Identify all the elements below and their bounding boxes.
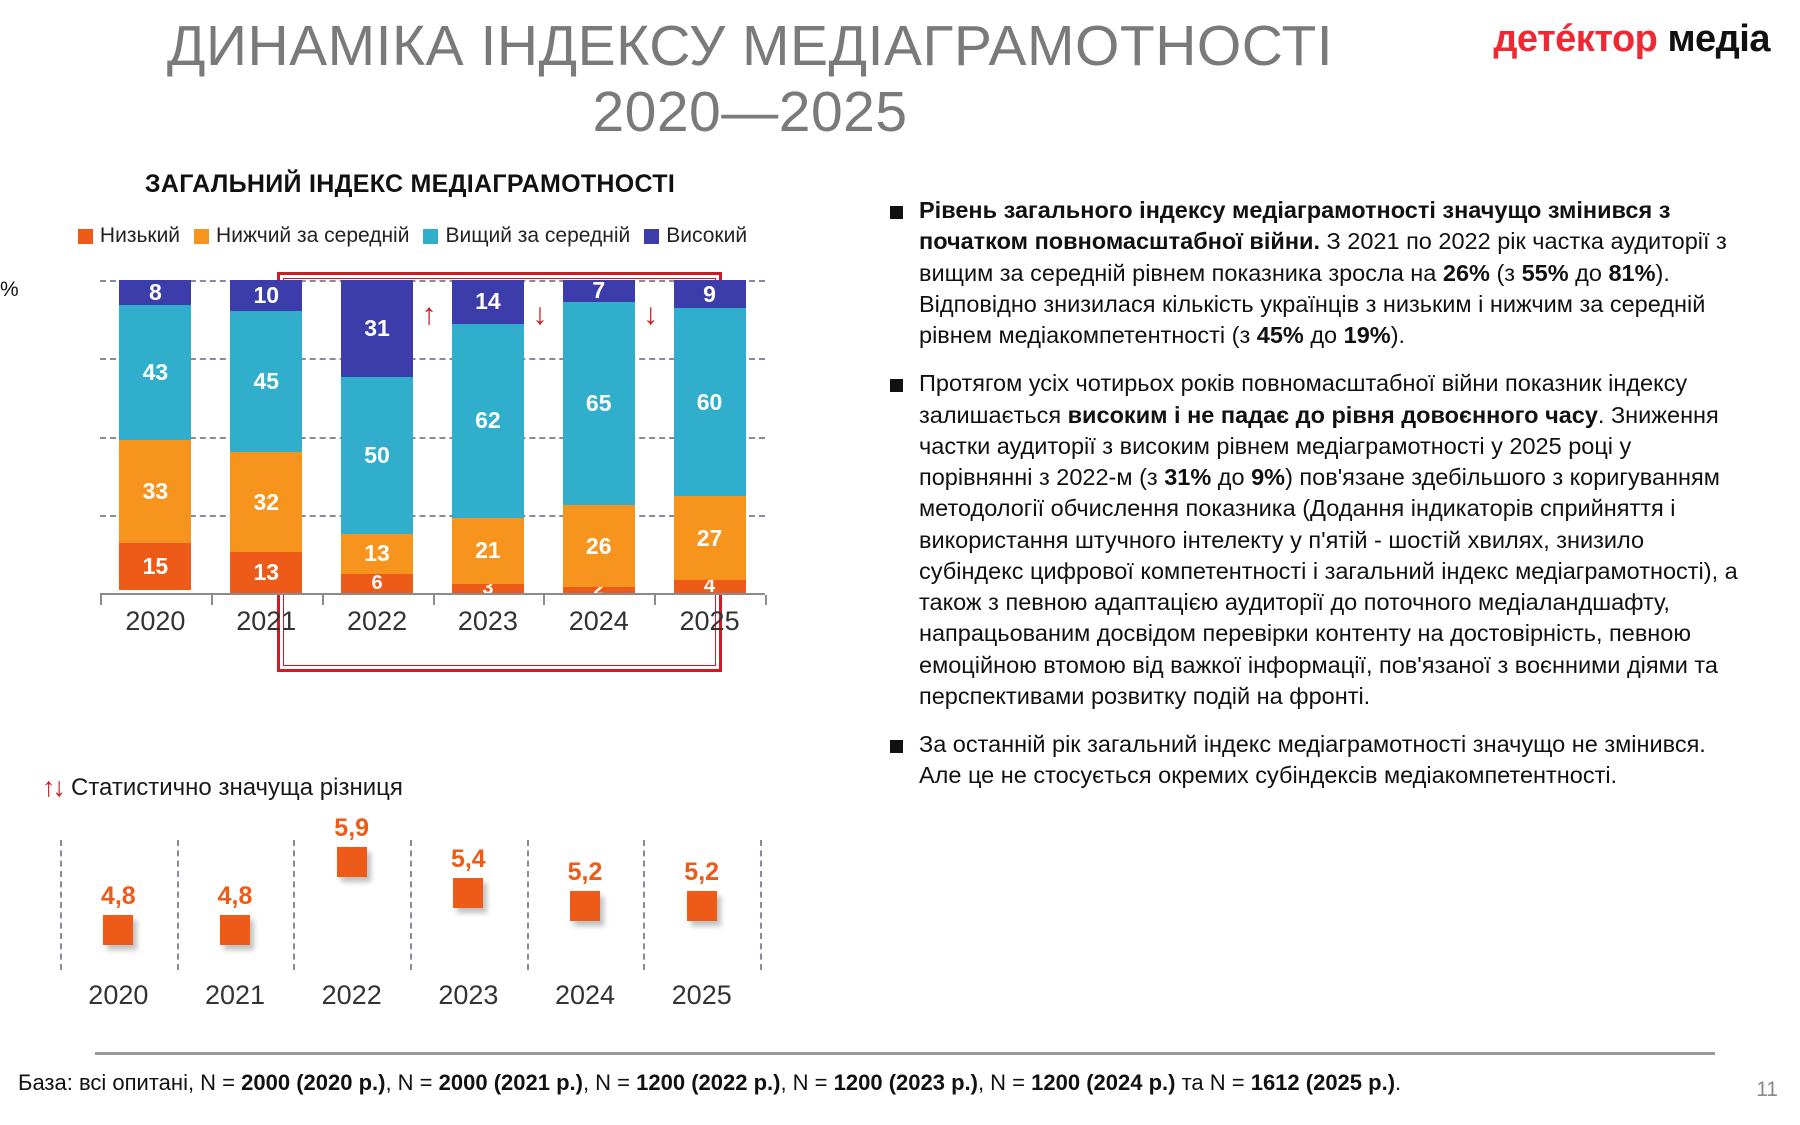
legend-label: Високий xyxy=(666,224,747,248)
index-gridline xyxy=(760,840,762,970)
legend-label: Нижчий за середній xyxy=(216,224,409,248)
notes-panel: Рівень загального індексу медіаграмотнос… xyxy=(890,195,1750,809)
significance-down-arrow-icon: ↓ xyxy=(532,300,547,330)
significance-up-arrow-icon: ↑ xyxy=(422,300,437,330)
index-value-label: 5,4 xyxy=(451,845,486,874)
index-point[interactable]: 5,9 xyxy=(293,840,410,970)
index-x-label: 2024 xyxy=(527,980,644,1011)
axis-tick xyxy=(100,595,102,605)
stacked-bar[interactable]: 3150136 xyxy=(341,280,413,593)
bar-segment: 9 xyxy=(674,280,746,308)
stacked-bar[interactable]: 960274 xyxy=(674,280,746,593)
index-marker xyxy=(687,891,717,921)
bar-segment: 14 xyxy=(452,280,524,324)
index-x-label: 2022 xyxy=(293,980,410,1011)
bar-group[interactable]: 1462213 xyxy=(432,280,543,593)
brand-logo: детéктор медіа xyxy=(1493,18,1770,61)
index-marker xyxy=(103,915,133,945)
bar-segment: 31 xyxy=(341,280,413,377)
index-marker xyxy=(570,891,600,921)
bar-group[interactable]: 10453213 xyxy=(211,280,322,593)
index-point[interactable]: 4,8 xyxy=(177,840,294,970)
note-item: За останній рік загальний індекс медіагр… xyxy=(890,729,1750,792)
bar-segment: 27 xyxy=(674,496,746,581)
stacked-bar[interactable]: 765262 xyxy=(563,280,635,593)
index-value-label: 4,8 xyxy=(218,882,253,911)
legend-item[interactable]: Вищий за середній xyxy=(423,224,630,248)
legend-label: Вищий за середній xyxy=(445,224,630,248)
legend-item[interactable]: Низький xyxy=(78,224,180,248)
bar-segment: 43 xyxy=(119,305,191,440)
legend-swatch-icon xyxy=(194,229,209,244)
stacked-bar[interactable]: 10453213 xyxy=(230,280,302,593)
index-x-label: 2020 xyxy=(60,980,177,1011)
bar-segment: 60 xyxy=(674,308,746,496)
index-value-label: 5,2 xyxy=(684,858,719,887)
bar-segment: 50 xyxy=(341,377,413,534)
chart-title: ЗАГАЛЬНИЙ ІНДЕКС МЕДІАГРАМОТНОСТІ xyxy=(50,170,770,199)
index-marker xyxy=(453,878,483,908)
index-point[interactable]: 4,8 xyxy=(60,840,177,970)
index-point[interactable]: 5,2 xyxy=(527,840,644,970)
note-item: Протягом усіх чотирьох років повномасшта… xyxy=(890,368,1750,712)
bar-segment: 21 xyxy=(452,518,524,584)
bar-segment: 45 xyxy=(230,311,302,452)
bar-segment: 10 xyxy=(230,280,302,311)
bar-group[interactable]: 960274 xyxy=(654,280,765,593)
index-x-label: 2021 xyxy=(177,980,294,1011)
index-markers-container: 4,84,85,95,45,25,2 xyxy=(60,840,760,970)
index-value-label: 5,2 xyxy=(568,858,603,887)
x-axis-label: 2023 xyxy=(432,606,543,637)
index-marker xyxy=(337,847,367,877)
legend-item[interactable]: Високий xyxy=(644,224,747,248)
bar-segment: 7 xyxy=(563,280,635,302)
bar-segment: 15 xyxy=(119,543,191,590)
bullet-icon xyxy=(890,379,903,392)
logo-red-text: детéктор xyxy=(1493,18,1657,60)
note-item: Рівень загального індексу медіаграмотнос… xyxy=(890,195,1750,351)
bar-segment: 32 xyxy=(230,452,302,552)
bar-segment: 8 xyxy=(119,280,191,305)
bar-segment: 33 xyxy=(119,440,191,543)
axis-unit-label: % xyxy=(0,278,19,302)
axis-tick xyxy=(322,595,324,605)
stacked-bar[interactable]: 1462213 xyxy=(452,280,524,593)
index-x-axis-labels: 202020212022202320242025 xyxy=(60,980,760,1011)
title-line-2: 2020—2025 xyxy=(0,80,1500,146)
page-number: 11 xyxy=(1756,1078,1778,1102)
bullet-icon xyxy=(890,206,903,219)
page-title: ДИНАМІКА ІНДЕКСУ МЕДІАГРАМОТНОСТІ 2020—2… xyxy=(0,14,1500,145)
x-axis-label: 2025 xyxy=(654,606,765,637)
x-axis-label: 2024 xyxy=(543,606,654,637)
slide: детéктор медіа ДИНАМІКА ІНДЕКСУ МЕДІАГРА… xyxy=(0,0,1800,1125)
legend-swatch-icon xyxy=(644,229,659,244)
footer-divider xyxy=(95,1052,1715,1055)
bar-group[interactable]: 765262 xyxy=(543,280,654,593)
legend-swatch-icon xyxy=(423,229,438,244)
legend-swatch-icon xyxy=(78,229,93,244)
legend-item[interactable]: Нижчий за середній xyxy=(194,224,409,248)
footer-base-note: База: всі опитані, N = 2000 (2020 р.), N… xyxy=(18,1070,1718,1096)
index-point[interactable]: 5,4 xyxy=(410,840,527,970)
axis-tick xyxy=(654,595,656,605)
bar-segment: 26 xyxy=(563,505,635,586)
stacked-bar[interactable]: 8433315 xyxy=(119,280,191,593)
x-axis-label: 2022 xyxy=(322,606,433,637)
note-text: За останній рік загальний індекс медіагр… xyxy=(919,729,1750,792)
index-scatter-chart: 4,84,85,95,45,25,2 202020212022202320242… xyxy=(60,840,760,1015)
significance-legend-label: Статистично значуща різниця xyxy=(71,774,403,802)
bar-group[interactable]: 3150136 xyxy=(322,280,433,593)
title-line-1: ДИНАМІКА ІНДЕКСУ МЕДІАГРАМОТНОСТІ xyxy=(167,14,1333,78)
axis-tick xyxy=(543,595,545,605)
axis-tick xyxy=(765,595,767,605)
significance-arrows-icon: ↑↓ xyxy=(42,772,63,803)
bar-segment: 65 xyxy=(563,302,635,505)
x-axis-label: 2020 xyxy=(100,606,211,637)
index-value-label: 5,9 xyxy=(334,814,369,843)
significance-legend: ↑↓ Статистично значуща різниця xyxy=(42,772,403,803)
index-x-label: 2025 xyxy=(643,980,760,1011)
bullet-icon xyxy=(890,740,903,753)
x-axis-label: 2021 xyxy=(211,606,322,637)
bar-segment: 3 xyxy=(452,584,524,593)
bar-segment: 13 xyxy=(341,534,413,575)
legend-label: Низький xyxy=(100,224,180,248)
bar-segment: 13 xyxy=(230,552,302,593)
note-text: Протягом усіх чотирьох років повномасшта… xyxy=(919,368,1750,712)
stacked-bar-chart: 8433315104532133150136146221376526296027… xyxy=(40,280,780,610)
axis-tick xyxy=(433,595,435,605)
index-value-label: 4,8 xyxy=(101,882,136,911)
chart-legend: НизькийНижчий за середнійВищий за середн… xyxy=(40,224,785,248)
index-x-label: 2023 xyxy=(410,980,527,1011)
bar-x-axis-labels: 202020212022202320242025 xyxy=(100,606,765,637)
index-point[interactable]: 5,2 xyxy=(643,840,760,970)
bar-segment: 4 xyxy=(674,580,746,593)
axis-tick xyxy=(211,595,213,605)
bar-segment: 62 xyxy=(452,324,524,518)
index-marker xyxy=(220,915,250,945)
significance-down-arrow-icon: ↓ xyxy=(643,300,658,330)
note-text: Рівень загального індексу медіаграмотнос… xyxy=(919,195,1750,351)
bar-group[interactable]: 8433315 xyxy=(100,280,211,593)
bar-x-axis xyxy=(100,593,765,603)
bar-segment: 6 xyxy=(341,574,413,593)
logo-black-text: медіа xyxy=(1667,18,1770,60)
